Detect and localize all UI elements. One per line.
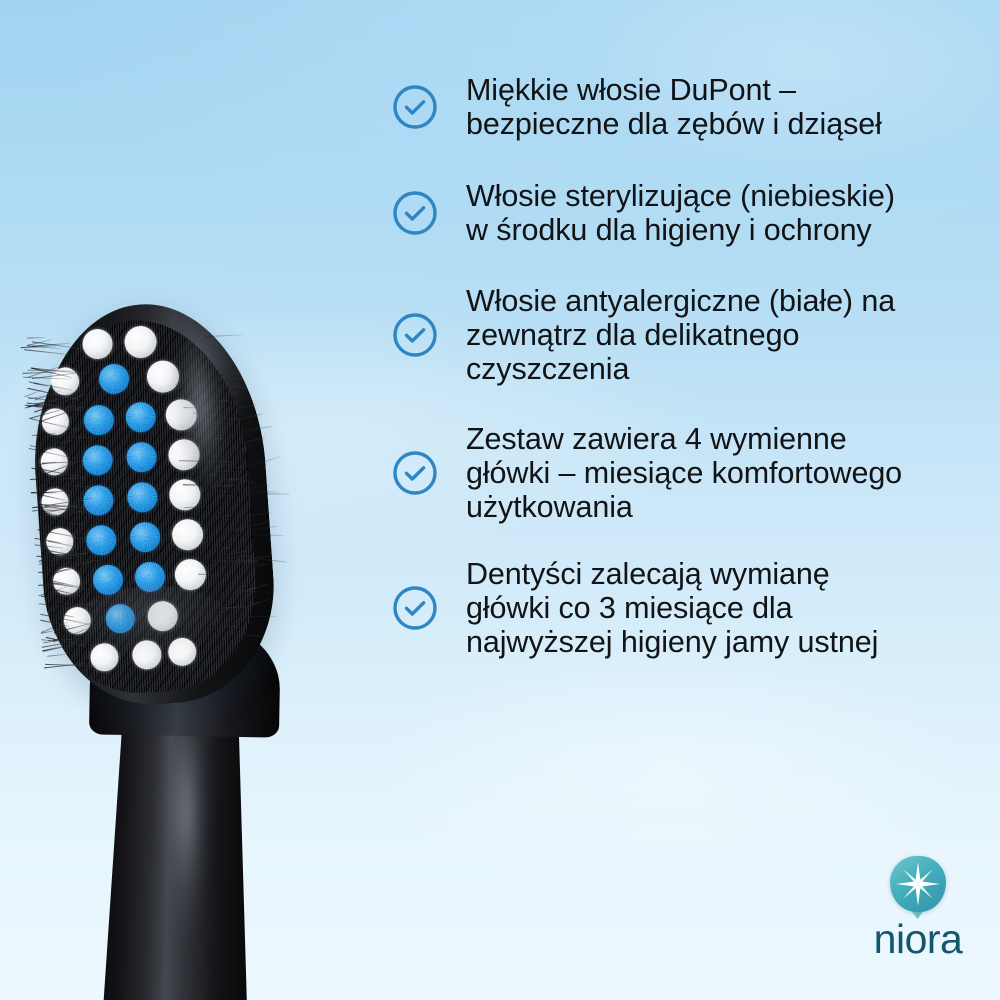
feature-text: Dentyści zalecają wymianę główki co 3 mi… (466, 557, 878, 659)
feature-item-sterilizing-blue-bristles: Włosie sterylizujące (niebieskie) w środ… (392, 170, 992, 256)
feature-text: Włosie sterylizujące (niebieskie) w środ… (466, 179, 895, 247)
feature-text: Zestaw zawiera 4 wymienne główki – miesi… (466, 422, 902, 524)
check-circle-icon (392, 84, 442, 130)
brand-wordmark: niora (852, 919, 984, 960)
feature-item-set-of-four-heads: Zestaw zawiera 4 wymienne główki – miesi… (392, 414, 992, 532)
brand-logo: niora (852, 856, 984, 966)
check-circle-icon (392, 450, 442, 496)
check-circle-icon (392, 312, 442, 358)
feature-text: Miękkie włosie DuPont – bezpieczne dla z… (466, 73, 882, 141)
check-circle-icon (392, 585, 442, 631)
feature-item-dentist-replacement-advice: Dentyści zalecają wymianę główki co 3 mi… (392, 552, 992, 664)
feature-item-soft-dupont-bristles: Miękkie włosie DuPont – bezpieczne dla z… (392, 64, 992, 150)
electric-toothbrush-head-image (0, 286, 410, 1000)
feature-list: Miękkie włosie DuPont – bezpieczne dla z… (392, 64, 992, 664)
feature-text: Włosie antyalergiczne (białe) na zewnątr… (466, 284, 895, 386)
handle-highlight (156, 706, 216, 1000)
bristle-strand (27, 337, 45, 339)
bristle-strand (24, 349, 69, 355)
infographic-canvas: Miękkie włosie DuPont – bezpieczne dla z… (0, 0, 1000, 1000)
compass-star-badge-icon (890, 856, 946, 912)
check-circle-icon (392, 190, 442, 236)
feature-item-antiallergic-white-bristles: Włosie antyalergiczne (białe) na zewnątr… (392, 276, 992, 394)
